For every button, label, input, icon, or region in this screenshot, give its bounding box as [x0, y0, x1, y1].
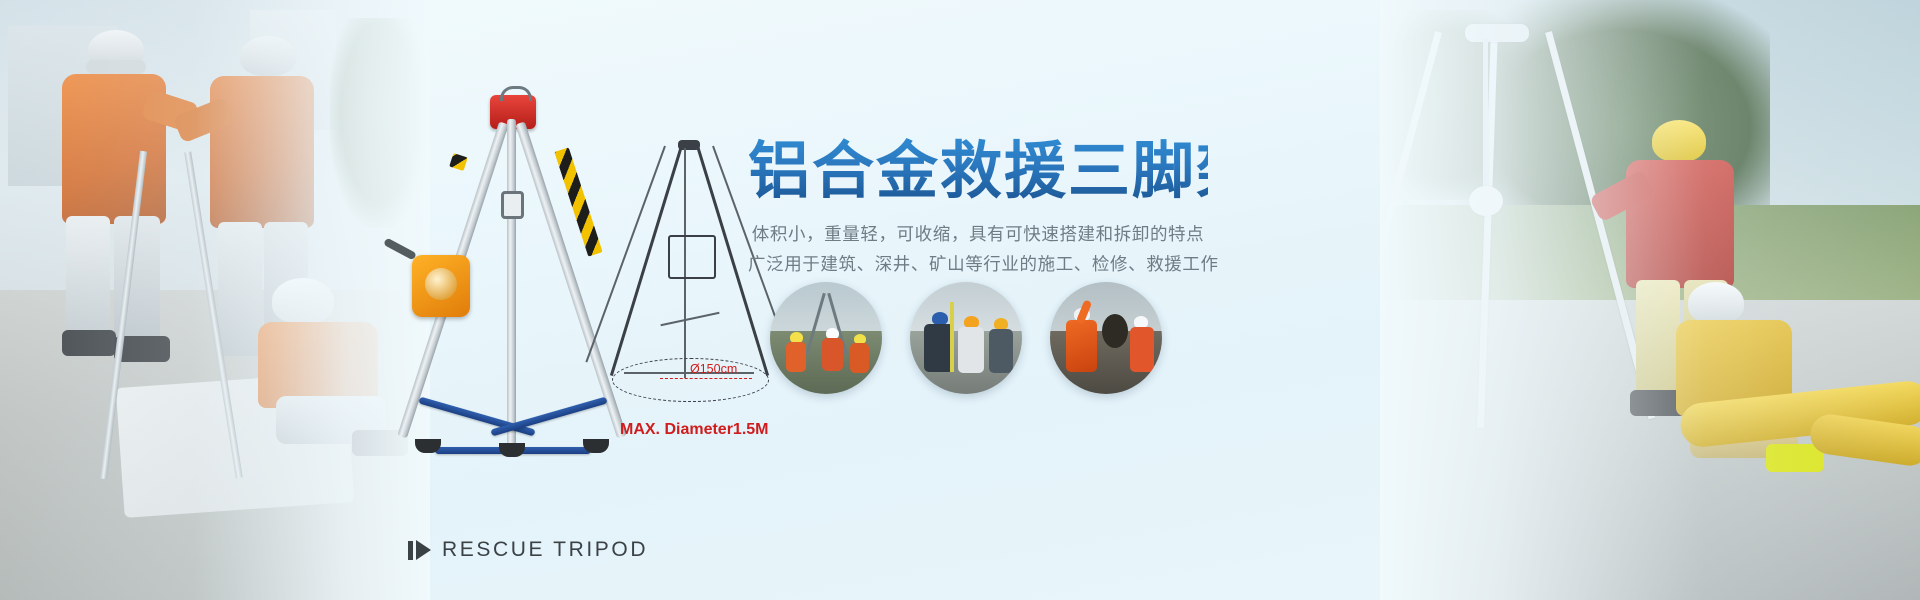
right-scene-tripod	[1395, 18, 1695, 438]
left-figure-1	[40, 30, 180, 360]
left-scene-photo	[0, 0, 430, 600]
subtitle-line-2: 广泛用于建筑、深井、矿山等行业的施工、检修、救援工作	[748, 250, 1208, 280]
thumbnail-3[interactable]	[1050, 282, 1162, 394]
right-figure-2	[1670, 282, 1830, 512]
thumbnail-1[interactable]	[770, 282, 882, 394]
max-diameter-annotation: MAX. Diameter1.5M	[620, 421, 769, 439]
diameter-annotation: Ø150cm	[690, 362, 737, 376]
left-figure-2	[170, 36, 320, 366]
play-marker-icon	[408, 540, 431, 560]
right-scene-photo	[1380, 0, 1920, 600]
subtitle-line-1: 体积小，重量轻，可收缩，具有可快速搭建和拆卸的特点	[748, 220, 1208, 250]
subtitle-block: 体积小，重量轻，可收缩，具有可快速搭建和拆卸的特点 广泛用于建筑、深井、矿山等行…	[748, 220, 1208, 280]
thumbnail-strip	[770, 282, 1162, 394]
winch	[412, 255, 470, 317]
pulley	[501, 191, 524, 219]
headline-block: 铝合金救援三脚架 体积小，重量轻，可收缩，具有可快速搭建和拆卸的特点 广泛用于建…	[748, 138, 1208, 280]
product-caption: RESCUE TRIPOD	[408, 538, 648, 562]
right-figure-1	[1600, 120, 1760, 420]
product-main-image	[395, 95, 630, 460]
thumbnail-2[interactable]	[910, 282, 1022, 394]
left-figure-3	[250, 278, 410, 478]
promo-banner: Ø150cm MAX. Diameter1.5M RESCUE TRIPOD 铝…	[0, 0, 1920, 600]
page-title: 铝合金救援三脚架	[748, 138, 1208, 204]
caption-text: RESCUE TRIPOD	[442, 538, 648, 562]
